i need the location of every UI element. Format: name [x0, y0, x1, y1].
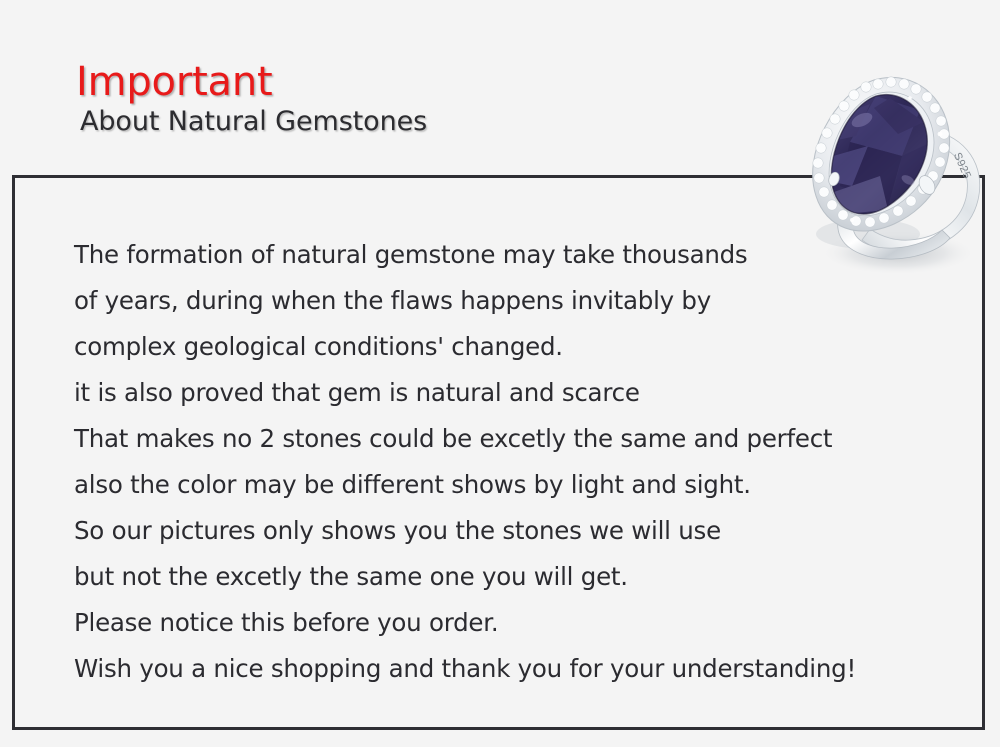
text-line: That makes no 2 stones could be excetly …	[74, 416, 954, 462]
page-title: Important	[76, 62, 427, 103]
promo-banner: Important About Natural Gemstones The fo…	[0, 0, 1000, 747]
text-line: but not the excetly the same one you wil…	[74, 554, 954, 600]
text-line: it is also proved that gem is natural an…	[74, 370, 954, 416]
disclaimer-text-block: The formation of natural gemstone may ta…	[74, 232, 954, 692]
header-block: Important About Natural Gemstones	[76, 62, 427, 136]
text-line: also the color may be different shows by…	[74, 462, 954, 508]
text-line: The formation of natural gemstone may ta…	[74, 232, 954, 278]
text-line: Wish you a nice shopping and thank you f…	[74, 646, 954, 692]
page-subtitle: About Natural Gemstones	[80, 107, 427, 137]
text-line: So our pictures only shows you the stone…	[74, 508, 954, 554]
text-line: of years, during when the flaws happens …	[74, 278, 954, 324]
text-line: Please notice this before you order.	[74, 600, 954, 646]
text-line: complex geological conditions' changed.	[74, 324, 954, 370]
